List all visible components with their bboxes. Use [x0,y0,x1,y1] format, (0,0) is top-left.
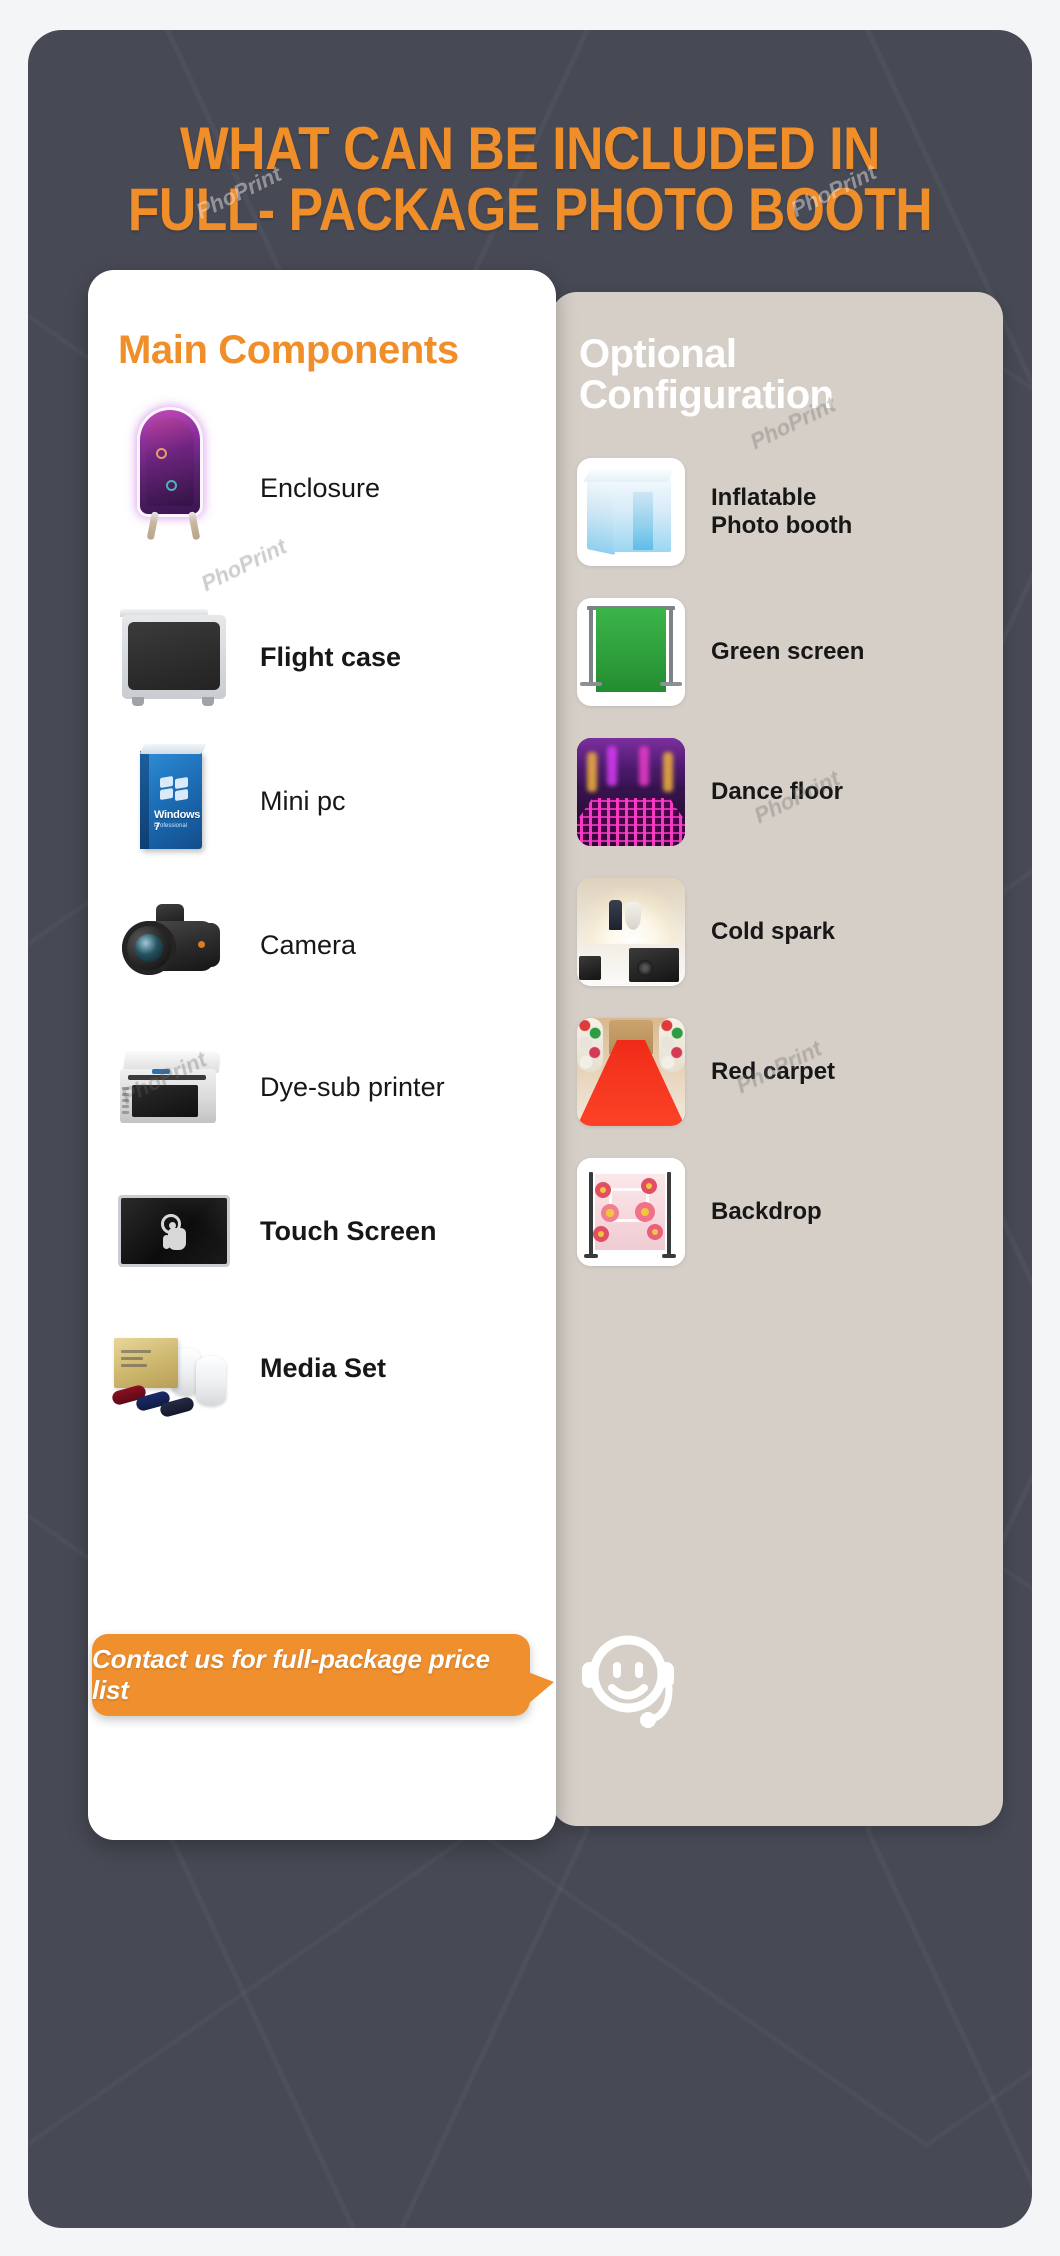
list-item[interactable]: Touch Screen [110,1166,540,1296]
page-title: WHAT CAN BE INCLUDED IN FULL- PACKAGE PH… [98,118,961,240]
list-item-label: Touch Screen [260,1216,437,1246]
flight-case-icon [110,593,238,721]
dslr-camera-icon [110,881,238,1009]
list-item-label: Inflatable Photo booth [711,484,852,539]
list-item[interactable]: Camera [110,880,540,1010]
list-item[interactable]: Backdrop [577,1154,987,1270]
list-item[interactable]: Cold spark [577,874,987,990]
list-item-label: Camera [260,930,356,960]
list-item[interactable]: Inflatable Photo booth [577,454,987,570]
contact-cta-label: Contact us for full-package price list [92,1644,530,1706]
dance-floor-icon [577,738,685,846]
list-item-label: Mini pc [260,786,346,816]
list-item-label: Enclosure [260,473,380,503]
main-components-panel: Main Components Enclosure [88,270,556,1840]
list-item[interactable]: Media Set [110,1298,540,1438]
main-components-heading: Main Components [118,328,459,373]
windows7-box-icon: Windows 7 Professional [110,737,238,865]
list-item[interactable]: Windows 7 Professional Mini pc [110,736,540,866]
media-set-icon [110,1304,238,1432]
cold-spark-icon [577,878,685,986]
list-item[interactable]: Green screen [577,594,987,710]
list-item-label: Red carpet [711,1058,835,1086]
list-item[interactable]: Flight case [110,592,540,722]
speech-bubble-tail [528,1672,554,1704]
photo-booth-enclosure-icon [110,408,238,568]
list-item[interactable]: Dance floor [577,734,987,850]
infographic-poster: WHAT CAN BE INCLUDED IN FULL- PACKAGE PH… [28,30,1032,2228]
list-item[interactable]: Enclosure [110,408,540,568]
touch-screen-icon [110,1167,238,1295]
list-item-label: Dye-sub printer [260,1072,445,1102]
green-screen-icon [577,598,685,706]
backdrop-icon [577,1158,685,1266]
optional-configuration-heading: Optional Configuration [579,334,833,416]
customer-support-headset-smiley-icon[interactable] [568,1618,688,1738]
inflatable-photo-booth-icon [577,458,685,566]
list-item[interactable]: Red carpet [577,1014,987,1130]
contact-cta-button[interactable]: Contact us for full-package price list [92,1634,530,1716]
list-item[interactable]: Dye-sub printer [110,1022,540,1152]
list-item-label: Flight case [260,642,401,672]
list-item-label: Dance floor [711,778,843,806]
dye-sub-printer-icon [110,1023,238,1151]
list-item-label: Backdrop [711,1198,822,1226]
red-carpet-icon [577,1018,685,1126]
optional-configuration-panel: Optional Configuration Inflatable Photo … [551,292,1003,1826]
list-item-label: Media Set [260,1353,386,1383]
list-item-label: Cold spark [711,918,835,946]
list-item-label: Green screen [711,638,864,666]
